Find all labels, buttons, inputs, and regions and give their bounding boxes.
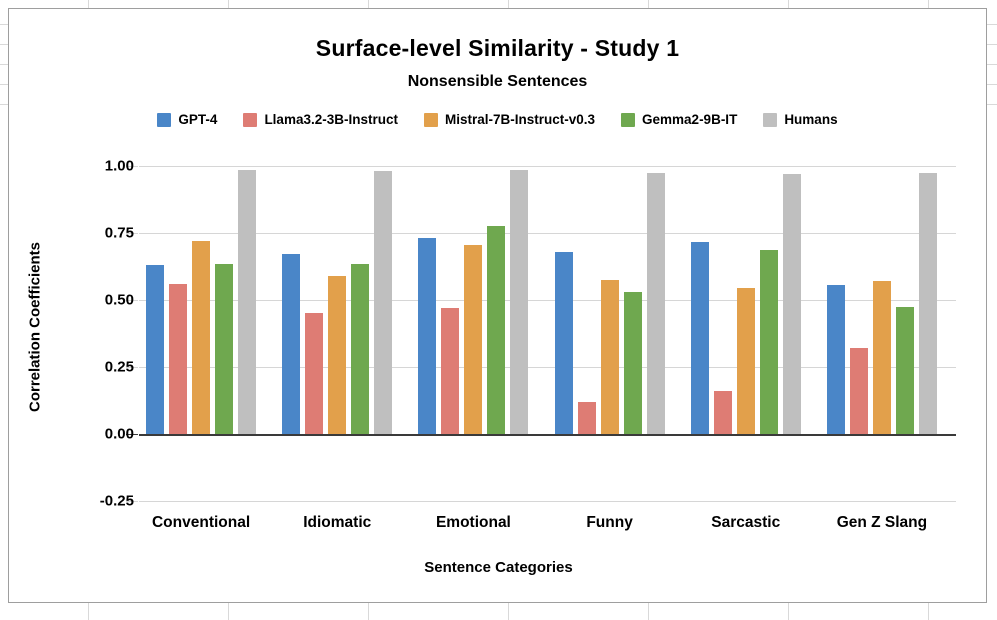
bar-group <box>139 166 275 501</box>
bar[interactable] <box>441 308 459 434</box>
bar[interactable] <box>601 280 619 434</box>
bar[interactable] <box>737 288 755 434</box>
plot-area: -0.250.000.250.500.751.00 ConventionalId… <box>139 166 956 501</box>
bar[interactable] <box>714 391 732 434</box>
x-axis-category-label: Idiomatic <box>303 514 371 532</box>
x-axis-category-label: Sarcastic <box>711 514 780 532</box>
bar[interactable] <box>873 281 891 434</box>
bar[interactable] <box>464 245 482 434</box>
bar[interactable] <box>328 276 346 434</box>
bar[interactable] <box>305 313 323 434</box>
bar[interactable] <box>783 174 801 434</box>
bar[interactable] <box>510 170 528 434</box>
chart-container[interactable]: Surface-level Similarity - Study 1 Nonse… <box>8 8 987 603</box>
bar-groups <box>139 166 956 501</box>
y-axis-title: Correlation Coefficients <box>23 207 47 447</box>
bar-group <box>684 166 820 501</box>
x-axis-title: Sentence Categories <box>9 559 988 576</box>
bar[interactable] <box>919 173 937 434</box>
y-axis-tick-label: 1.00 <box>14 158 134 175</box>
bar[interactable] <box>418 238 436 434</box>
plot-wrapper: Correlation Coefficients -0.250.000.250.… <box>9 9 988 604</box>
y-axis-tick-label: 0.25 <box>14 359 134 376</box>
bar-group <box>548 166 684 501</box>
bar[interactable] <box>351 264 369 434</box>
y-axis-tick-label: -0.25 <box>14 493 134 510</box>
bar[interactable] <box>555 252 573 434</box>
bar[interactable] <box>647 173 665 434</box>
y-axis-tick-label: 0.75 <box>14 225 134 242</box>
x-axis-category-label: Funny <box>586 514 633 532</box>
y-axis-tick-label: 0.00 <box>14 426 134 443</box>
bar[interactable] <box>578 402 596 434</box>
bar[interactable] <box>487 226 505 434</box>
x-axis-category-label: Conventional <box>152 514 250 532</box>
bar-group <box>411 166 547 501</box>
bar[interactable] <box>896 307 914 434</box>
bar[interactable] <box>760 250 778 434</box>
gridline <box>139 501 956 502</box>
x-axis-category-label: Emotional <box>436 514 511 532</box>
bar[interactable] <box>169 284 187 434</box>
bar[interactable] <box>850 348 868 434</box>
bar-group <box>275 166 411 501</box>
bar[interactable] <box>238 170 256 434</box>
bar[interactable] <box>215 264 233 434</box>
bar[interactable] <box>624 292 642 434</box>
x-axis-category-label: Gen Z Slang <box>837 514 927 532</box>
bar-group <box>820 166 956 501</box>
bar[interactable] <box>827 285 845 434</box>
bar[interactable] <box>192 241 210 434</box>
y-axis-tick-label: 0.50 <box>14 292 134 309</box>
bar[interactable] <box>146 265 164 434</box>
bar[interactable] <box>282 254 300 434</box>
bar[interactable] <box>691 242 709 434</box>
bar[interactable] <box>374 171 392 434</box>
